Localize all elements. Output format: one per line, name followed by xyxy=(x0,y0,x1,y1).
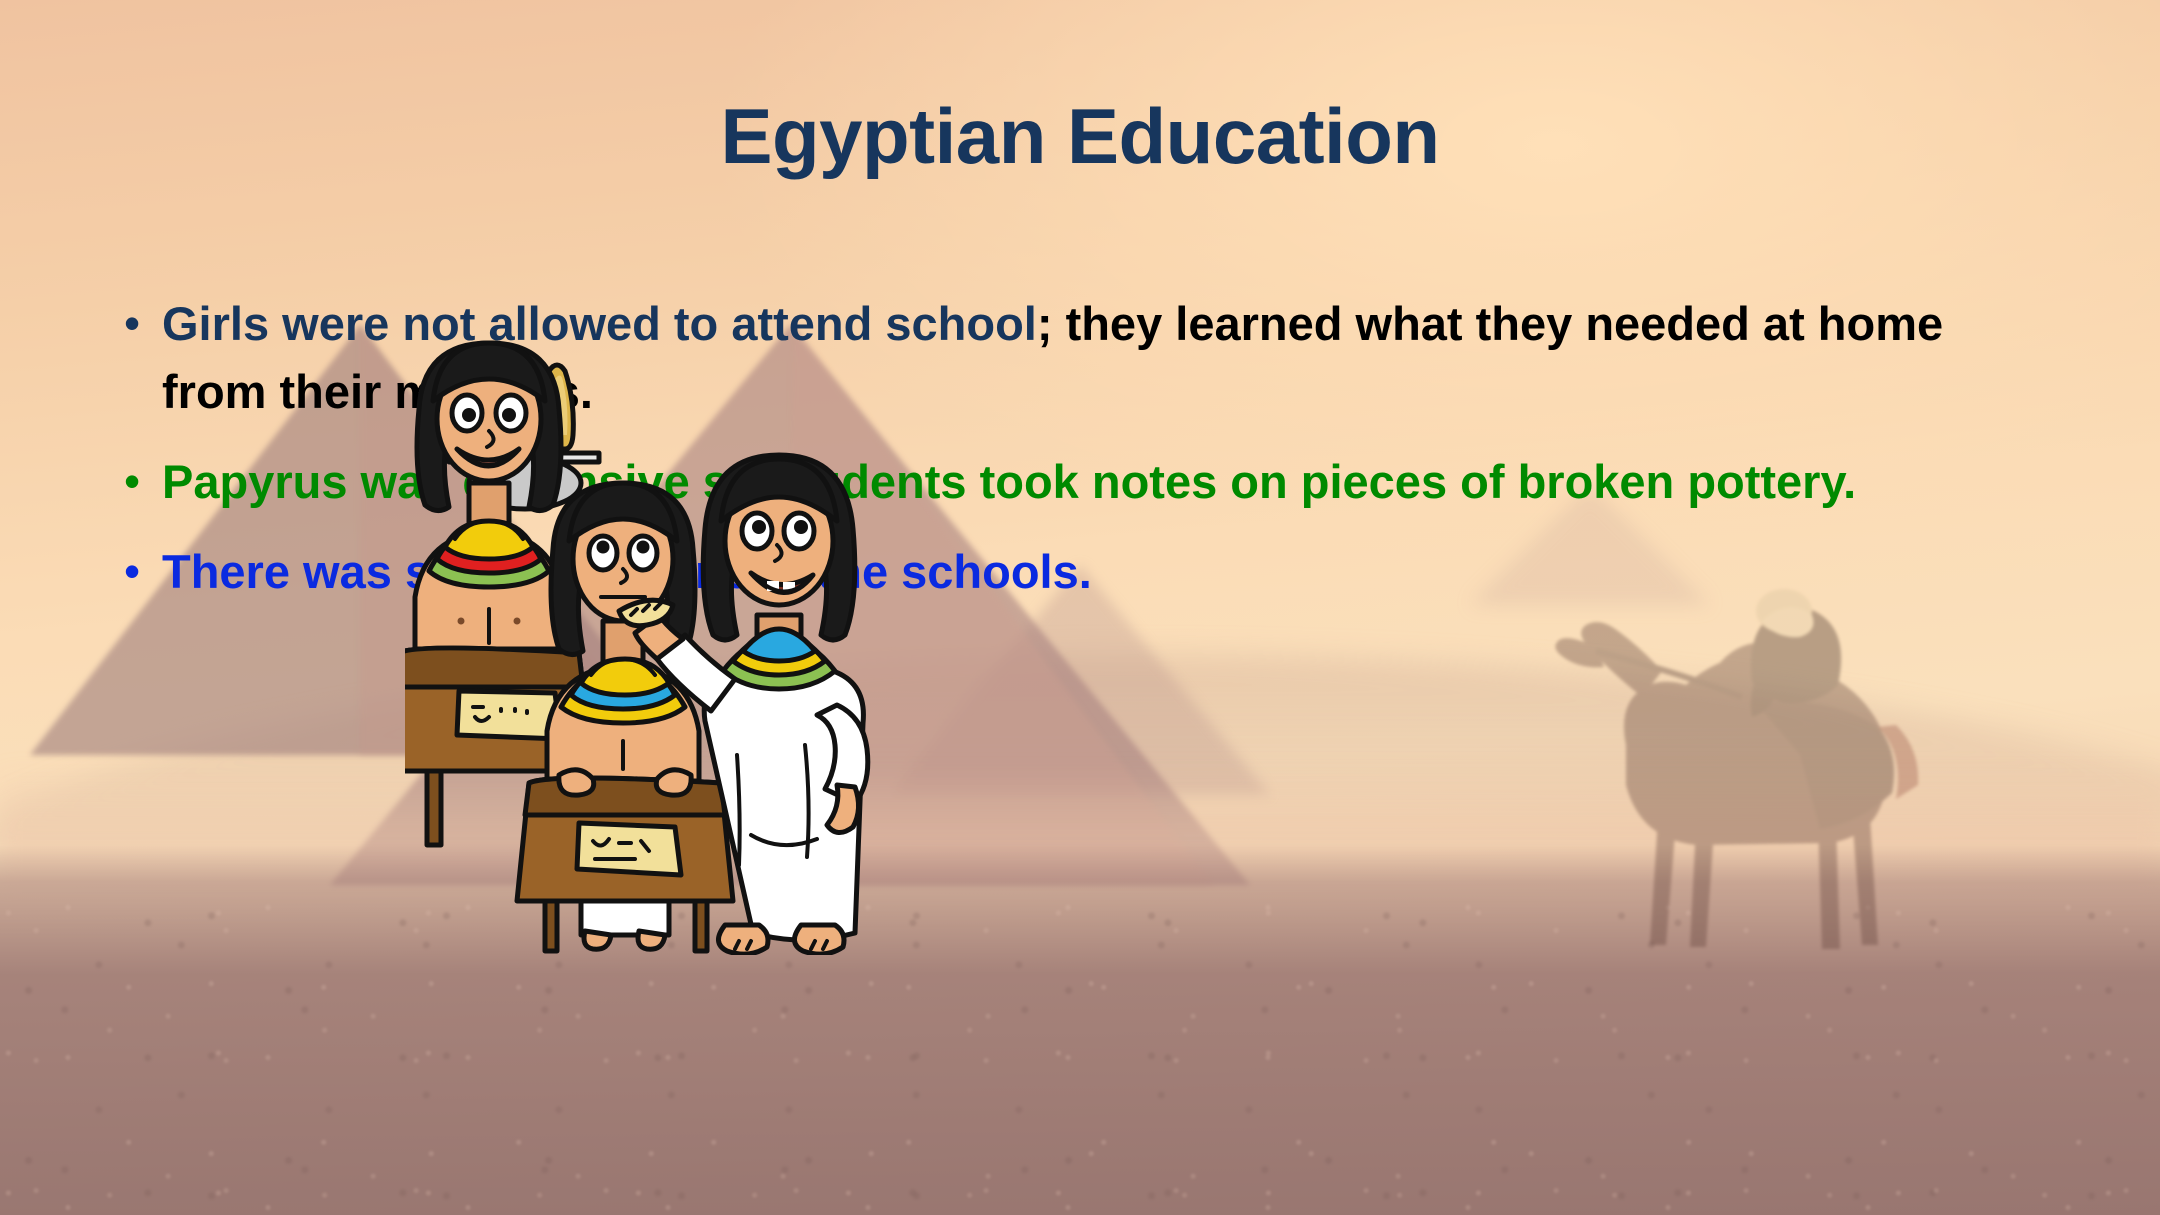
bullet-marker: • xyxy=(110,290,162,356)
bullet-list: • Girls were not allowed to attend schoo… xyxy=(110,290,2050,628)
bullet-item-2: • Papyrus was expensive so students took… xyxy=(110,448,2050,516)
bullet-marker: • xyxy=(110,538,162,604)
slide-canvas: Egyptian Education • Girls were not allo… xyxy=(0,0,2160,1215)
bullet-marker: • xyxy=(110,448,162,514)
camel-with-rider-icon xyxy=(1500,585,1970,965)
egyptian-students-clipart: .ol { stroke:#111; stroke-width:5; strok… xyxy=(405,335,1005,955)
slide-title: Egyptian Education xyxy=(0,96,2160,178)
seated-student-center xyxy=(517,483,733,951)
bullet-item-1: • Girls were not allowed to attend schoo… xyxy=(110,290,2050,426)
bullet-item-3: • There was strict discipline in the sch… xyxy=(110,538,2050,606)
